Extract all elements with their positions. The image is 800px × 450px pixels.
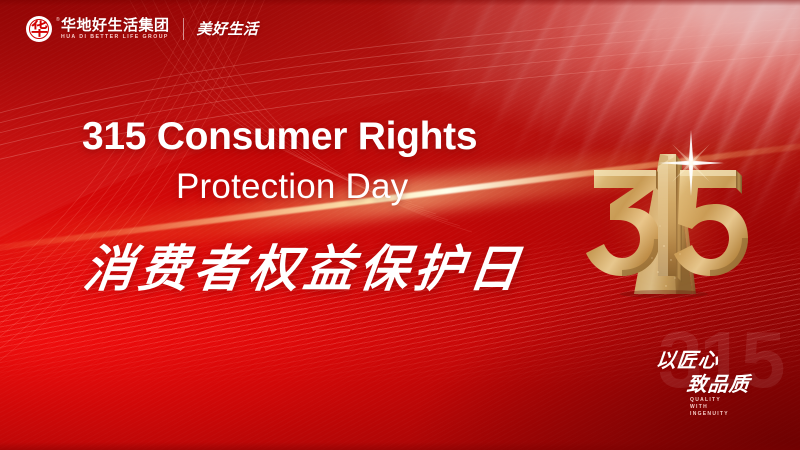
headline-english-line1: 315 Consumer Rights (82, 116, 477, 157)
emblem-glow (582, 144, 752, 304)
edge-bottom-shade (0, 442, 800, 450)
brand-name-en: HUA DI BETTER LIFE GROUP (61, 35, 170, 40)
badge-en-line3: INGENUITY (690, 412, 729, 418)
badge-line2-cn: 致品质 (686, 374, 751, 394)
badge-english-lines: QUALITY WITH INGENUITY (690, 398, 729, 418)
headline-chinese: 消费者权益保护日 (81, 244, 527, 294)
brand-name-cn: 华地好生活集团 (61, 18, 170, 34)
poster-canvas: 华 ® 华地好生活集团 HUA DI BETTER LIFE GROUP 美好生… (0, 0, 800, 450)
brand-logo-glyph: 华 (31, 21, 47, 38)
registered-trademark-icon: ® (56, 18, 60, 23)
brand-slogan-cn: 美好生活 (197, 22, 259, 37)
brand-logo-mark: 华 ® (26, 16, 52, 42)
edge-top-shade (0, 0, 800, 6)
badge-en-line1: QUALITY (690, 398, 729, 404)
emblem-315-gold (572, 126, 752, 304)
badge-line1-cn: 以匠心 (655, 350, 720, 370)
brand-logo-bar: 华 ® 华地好生活集团 HUA DI BETTER LIFE GROUP 美好生… (26, 16, 259, 42)
brand-logo-wordmark: 华地好生活集团 HUA DI BETTER LIFE GROUP (61, 18, 170, 40)
logo-divider (183, 18, 184, 40)
quality-badge: 315 以匠心 致品质 QUALITY WITH INGENUITY (650, 322, 782, 428)
badge-en-line2: WITH (690, 405, 729, 411)
headline-english-line2: Protection Day (176, 168, 408, 205)
